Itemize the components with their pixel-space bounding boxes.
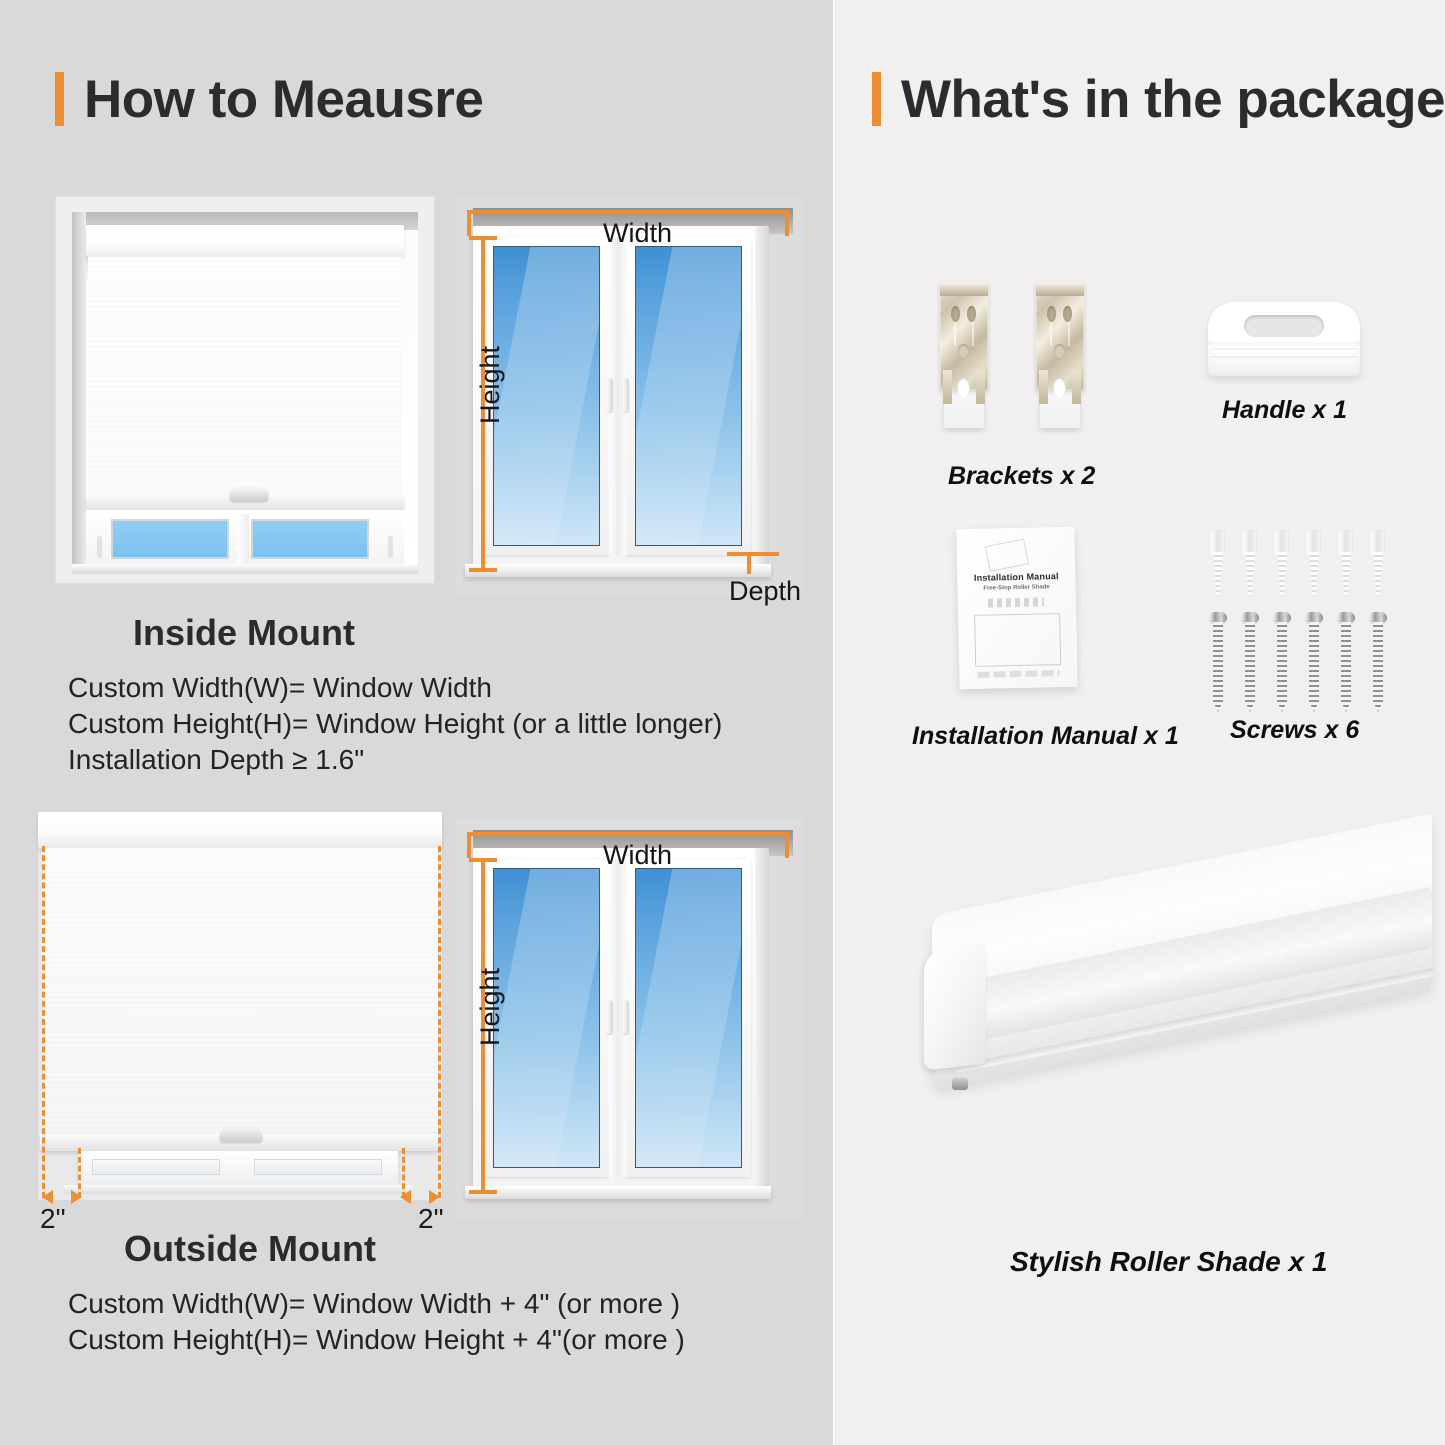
inside-mount-line-1: Custom Width(W)= Window Width xyxy=(68,670,492,706)
height-tick-top xyxy=(469,236,497,240)
anchor-body xyxy=(1245,552,1255,596)
anchor-head xyxy=(1211,530,1225,554)
overhang-arrows-right xyxy=(400,1190,440,1204)
manual-label: Installation Manual x 1 xyxy=(912,722,1179,751)
panel-divider xyxy=(833,0,836,1445)
how-to-measure-title: How to Meausre xyxy=(84,73,483,126)
anchor-head xyxy=(1307,530,1321,554)
bracket-slot xyxy=(951,306,960,322)
window-glass-left xyxy=(493,868,600,1168)
manual-cover-footer xyxy=(977,670,1059,678)
bracket-rib xyxy=(954,322,956,346)
outside-mount-line-2: Custom Height(H)= Window Height + 4"(or … xyxy=(68,1322,685,1358)
width-label: Width xyxy=(603,218,672,249)
window-handle-b-icon xyxy=(623,1000,629,1034)
outside-mount-window-diagram: Width Height xyxy=(455,818,803,1218)
how-to-measure-heading: How to Meausre xyxy=(55,72,483,126)
manual-cover-subtitle: Free-Stop Roller Shade xyxy=(958,584,1076,592)
bracket-icon xyxy=(938,282,990,428)
arrow-left-icon xyxy=(42,1190,53,1204)
bracket-tab-left xyxy=(1039,370,1048,404)
screw-icon xyxy=(1273,612,1291,712)
inside-mount-window-diagram: Width Height Depth xyxy=(455,196,803,596)
outside-shade-fabric xyxy=(42,848,438,1138)
wall-anchor-icon xyxy=(1368,530,1388,596)
roller-shade-pin xyxy=(952,1078,968,1090)
arrow-right-icon xyxy=(71,1190,82,1204)
roller-shade-end-cap xyxy=(924,944,986,1071)
screw-head xyxy=(1209,612,1227,623)
height-tick-bottom xyxy=(469,1190,497,1194)
anchor-head xyxy=(1243,530,1257,554)
screw-head xyxy=(1369,612,1387,623)
outside-shade-headrail xyxy=(38,812,442,848)
height-tick-bottom xyxy=(469,568,497,572)
shade-fabric xyxy=(88,257,402,497)
recess-left-jamb xyxy=(72,212,86,572)
overhang-label-right: 2" xyxy=(418,1203,444,1235)
shade-headrail xyxy=(86,225,404,257)
manual-icon: Installation Manual Free-Stop Roller Sha… xyxy=(956,527,1077,689)
wall-anchor-icon xyxy=(1240,530,1260,596)
overhang-guide-right xyxy=(438,846,441,1198)
screw-head xyxy=(1305,612,1323,623)
outside-window-pane-left xyxy=(92,1159,220,1175)
screw-shaft xyxy=(1245,622,1255,712)
screw-icon xyxy=(1305,612,1323,712)
outside-mount-line-1: Custom Width(W)= Window Width + 4" (or m… xyxy=(68,1286,680,1322)
window-sash-right xyxy=(626,237,751,555)
window-sash-right xyxy=(626,859,751,1177)
screw-shaft xyxy=(1341,622,1351,712)
handle-label: Handle x 1 xyxy=(1222,396,1347,425)
bracket-icon xyxy=(1034,282,1086,428)
anchor-head xyxy=(1275,530,1289,554)
window-right-jamb xyxy=(755,848,769,1190)
bracket-slot xyxy=(1063,306,1072,322)
outside-shade-pull-handle-icon xyxy=(220,1128,262,1142)
outside-window-sill xyxy=(64,1185,412,1194)
bracket-top-flange xyxy=(1036,282,1084,296)
width-tick-right xyxy=(785,210,789,236)
screw-head xyxy=(1337,612,1355,623)
width-tick-right xyxy=(785,832,789,858)
bracket-slot xyxy=(1047,306,1056,322)
wall-anchor-icon xyxy=(1208,530,1228,596)
width-dimension-line xyxy=(467,832,789,836)
outside-window-pane-right xyxy=(254,1159,382,1175)
anchor-body xyxy=(1341,552,1351,596)
wall-anchor-icon xyxy=(1272,530,1292,596)
window-glass-right xyxy=(635,246,742,546)
bracket-tab-right xyxy=(1072,370,1081,404)
outside-window-below xyxy=(78,1151,398,1185)
inside-mount-illustration xyxy=(55,196,435,584)
package-title: What's in the package xyxy=(901,73,1445,126)
bracket-screw-hole xyxy=(1053,377,1066,399)
outside-mount-illustration xyxy=(38,812,442,1200)
window-frame xyxy=(473,848,763,1188)
height-label: Height xyxy=(475,346,506,424)
inside-mount-line-2: Custom Height(H)= Window Height (or a li… xyxy=(68,706,722,742)
infographic-page: How to Meausre xyxy=(0,0,1445,1445)
depth-dimension-line xyxy=(727,552,779,556)
inside-mount-title: Inside Mount xyxy=(133,612,355,654)
screw-icon xyxy=(1337,612,1355,712)
window-sill-ledge xyxy=(465,1186,771,1199)
brackets-label: Brackets x 2 xyxy=(948,462,1095,491)
accent-bar-icon xyxy=(55,72,64,126)
handle-ridge xyxy=(1210,356,1358,358)
window-handle-a-icon xyxy=(607,378,613,412)
depth-tick xyxy=(747,552,751,574)
window-pane-right xyxy=(251,519,369,559)
width-tick-left xyxy=(467,210,471,236)
window-pane-left xyxy=(111,519,229,559)
manual-cover-diagram-box xyxy=(974,613,1061,667)
window-handle-a-icon xyxy=(607,1000,613,1034)
screw-icon xyxy=(1209,612,1227,712)
accent-bar-icon xyxy=(872,72,881,126)
depth-label: Depth xyxy=(729,576,801,607)
height-label: Height xyxy=(475,968,506,1046)
wall-anchor-icon xyxy=(1336,530,1356,596)
window-glass-left xyxy=(493,246,600,546)
window-frame xyxy=(473,226,763,566)
anchor-body xyxy=(1373,552,1383,596)
roller-shade-icon xyxy=(912,895,1432,1195)
window-sill-ledge xyxy=(465,564,771,577)
wall-anchor-icon xyxy=(1304,530,1324,596)
arrow-left-icon xyxy=(400,1190,411,1204)
screw-shaft xyxy=(1373,622,1383,712)
width-label: Width xyxy=(603,840,672,871)
screw-shaft xyxy=(1309,622,1319,712)
screw-icon xyxy=(1369,612,1387,712)
bracket-screw-hole xyxy=(957,377,970,399)
shade-pull-handle-icon xyxy=(230,488,268,501)
window-handle-left-icon xyxy=(97,536,102,558)
anchor-head xyxy=(1371,530,1385,554)
anchor-body xyxy=(1309,552,1319,596)
window-glass-right xyxy=(635,868,742,1168)
height-tick-top xyxy=(469,858,497,862)
window-right-jamb xyxy=(755,226,769,568)
screw-head xyxy=(1241,612,1259,623)
bracket-tab-left xyxy=(943,370,952,404)
width-dimension-line xyxy=(467,210,789,214)
bracket-top-flange xyxy=(940,282,988,296)
window-sill xyxy=(72,564,418,574)
roller-shade-label: Stylish Roller Shade x 1 xyxy=(1010,1246,1327,1278)
overhang-label-left: 2" xyxy=(40,1203,66,1235)
inside-mount-line-3: Installation Depth ≥ 1.6" xyxy=(68,742,364,778)
screws-label: Screws x 6 xyxy=(1230,716,1359,745)
handle-icon xyxy=(1208,302,1360,376)
overhang-arrows-left xyxy=(42,1190,82,1204)
anchor-head xyxy=(1339,530,1353,554)
package-heading: What's in the package xyxy=(872,72,1445,126)
window-handle-b-icon xyxy=(623,378,629,412)
bracket-rib xyxy=(972,322,974,346)
manual-sketch xyxy=(985,539,1029,572)
screw-head xyxy=(1273,612,1291,623)
overhang-guide-left xyxy=(42,846,45,1198)
anchor-body xyxy=(1277,552,1287,596)
bracket-hole xyxy=(1054,344,1065,358)
screw-shaft xyxy=(1213,622,1223,712)
bracket-tab-right xyxy=(976,370,985,404)
anchor-body xyxy=(1213,552,1223,596)
manual-cover-scribble xyxy=(988,597,1044,607)
bracket-slot xyxy=(967,306,976,322)
width-tick-left xyxy=(467,832,471,858)
window-below-shade xyxy=(86,510,404,572)
handle-ridge xyxy=(1210,348,1358,350)
handle-grip-slot xyxy=(1244,315,1324,337)
outside-mount-title: Outside Mount xyxy=(124,1228,376,1270)
screw-icon xyxy=(1241,612,1259,712)
bracket-rib xyxy=(1068,322,1070,346)
arrow-right-icon xyxy=(429,1190,440,1204)
window-mullion xyxy=(237,514,249,568)
bracket-rib xyxy=(1050,322,1052,346)
manual-cover-title: Installation Manual xyxy=(957,571,1075,583)
screw-shaft xyxy=(1277,622,1287,712)
bracket-hole xyxy=(958,344,969,358)
window-handle-right-icon xyxy=(388,536,393,558)
